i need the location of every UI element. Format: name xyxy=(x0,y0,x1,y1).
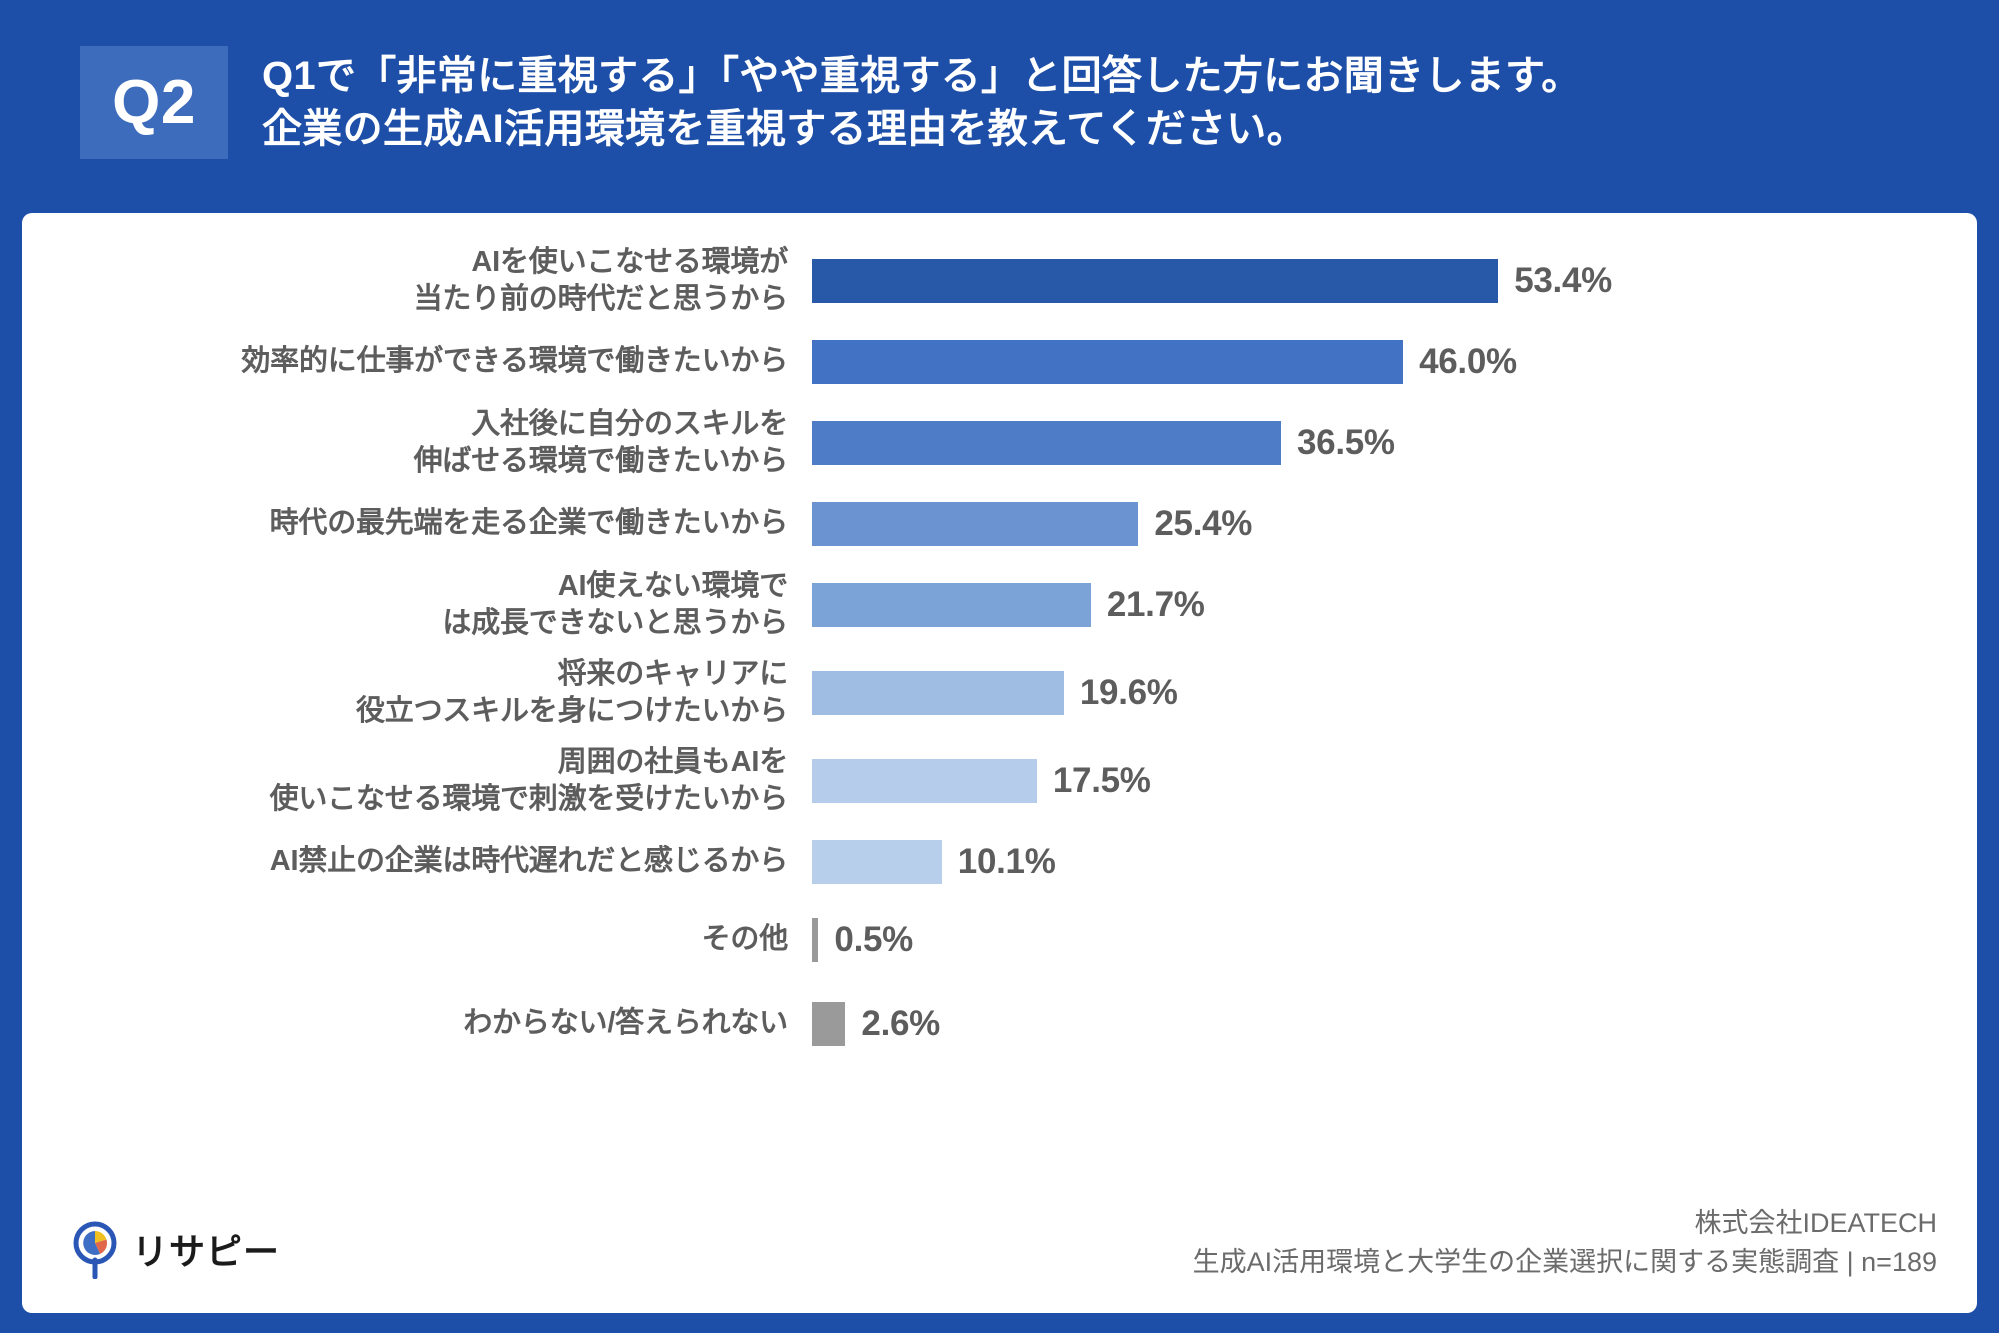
bar-value-label: 53.4% xyxy=(1514,261,1612,301)
brand-logo: リサピー xyxy=(70,1219,280,1279)
chart-row: 入社後に自分のスキルを伸ばせる環境で働きたいから36.5% xyxy=(22,399,1977,487)
bar-value-label: 17.5% xyxy=(1053,761,1151,801)
bar-area: 0.5% xyxy=(812,918,1977,962)
bar xyxy=(812,918,818,962)
chart-card: AIを使いこなせる環境が当たり前の時代だと思うから53.4%効率的に仕事ができる… xyxy=(22,213,1977,1313)
bar-value-label: 10.1% xyxy=(958,842,1056,882)
chart-row: その他0.5% xyxy=(22,899,1977,981)
bar-area: 2.6% xyxy=(812,1002,1977,1046)
slide-header: Q2 Q1で「非常に重視する」「やや重視する」と回答した方にお聞きします。 企業… xyxy=(0,0,1999,205)
question-title: Q1で「非常に重視する」「やや重視する」と回答した方にお聞きします。 企業の生成… xyxy=(262,50,1582,156)
bar-area: 17.5% xyxy=(812,759,1977,803)
bar-category-label-line: 伸ばせる環境で働きたいから xyxy=(22,443,788,480)
bar-category-label-line: 入社後に自分のスキルを xyxy=(22,406,788,443)
bar-value-label: 36.5% xyxy=(1297,423,1395,463)
bar-category-label-line: 将来のキャリアに xyxy=(22,656,788,693)
bar-category-label-line: AI禁止の企業は時代遅れだと感じるから xyxy=(22,843,788,880)
question-title-line-2: 企業の生成AI活用環境を重視する理由を教えてください。 xyxy=(262,103,1582,156)
brand-logo-label: リサピー xyxy=(132,1223,280,1275)
bar-category-label: 将来のキャリアに役立つスキルを身につけたいから xyxy=(22,656,812,730)
bar-area: 19.6% xyxy=(812,671,1977,715)
bar-category-label-line: わからない/答えられない xyxy=(22,1005,788,1042)
bar-category-label-line: 使いこなせる環境で刺激を受けたいから xyxy=(22,781,788,818)
bar-category-label-line: は成長できないと思うから xyxy=(22,605,788,642)
question-number-badge: Q2 xyxy=(80,46,228,159)
chart-row: AI禁止の企業は時代遅れだと感じるから10.1% xyxy=(22,825,1977,899)
bar-category-label: わからない/答えられない xyxy=(22,1005,812,1042)
bar xyxy=(812,502,1138,546)
slide-footer: リサピー 株式会社IDEATECH 生成AI活用環境と大学生の企業選択に関する実… xyxy=(22,1185,1977,1285)
bar-category-label-line: 役立つスキルを身につけたいから xyxy=(22,693,788,730)
bar-category-label: 入社後に自分のスキルを伸ばせる環境で働きたいから xyxy=(22,406,812,480)
chart-row: AIを使いこなせる環境が当たり前の時代だと思うから53.4% xyxy=(22,237,1977,325)
bar-category-label: 周囲の社員もAIを使いこなせる環境で刺激を受けたいから xyxy=(22,744,812,818)
bar xyxy=(812,840,942,884)
bar-area: 10.1% xyxy=(812,840,1977,884)
magnifier-pie-chart-icon xyxy=(70,1219,120,1279)
bar-category-label-line: AIを使いこなせる環境が xyxy=(22,244,788,281)
bar-category-label-line: その他 xyxy=(22,921,788,958)
bar-area: 46.0% xyxy=(812,340,1977,384)
bar-category-label-line: 効率的に仕事ができる環境で働きたいから xyxy=(22,343,788,380)
chart-row: 将来のキャリアに役立つスキルを身につけたいから19.6% xyxy=(22,649,1977,737)
bar-area: 36.5% xyxy=(812,421,1977,465)
bar-category-label-line: 周囲の社員もAIを xyxy=(22,744,788,781)
bar-category-label: AIを使いこなせる環境が当たり前の時代だと思うから xyxy=(22,244,812,318)
bar xyxy=(812,1002,845,1046)
bar xyxy=(812,340,1403,384)
bar-value-label: 2.6% xyxy=(861,1004,940,1044)
chart-row: AI使えない環境では成長できないと思うから21.7% xyxy=(22,561,1977,649)
chart-row: 時代の最先端を走る企業で働きたいから25.4% xyxy=(22,487,1977,561)
bar xyxy=(812,759,1037,803)
bar-category-label-line: 時代の最先端を走る企業で働きたいから xyxy=(22,505,788,542)
slide-root: Q2 Q1で「非常に重視する」「やや重視する」と回答した方にお聞きします。 企業… xyxy=(0,0,1999,1333)
credit-company: 株式会社IDEATECH xyxy=(1193,1204,1937,1242)
credit-survey: 生成AI活用環境と大学生の企業選択に関する実態調査 | n=189 xyxy=(1193,1243,1937,1281)
bar-category-label: 効率的に仕事ができる環境で働きたいから xyxy=(22,343,812,380)
bar-category-label-line: AI使えない環境で xyxy=(22,568,788,605)
bar-value-label: 46.0% xyxy=(1419,342,1517,382)
question-title-line-1: Q1で「非常に重視する」「やや重視する」と回答した方にお聞きします。 xyxy=(262,50,1582,103)
bar-area: 53.4% xyxy=(812,259,1977,303)
bar-category-label: AI禁止の企業は時代遅れだと感じるから xyxy=(22,843,812,880)
bar-category-label: その他 xyxy=(22,921,812,958)
bar-category-label: AI使えない環境では成長できないと思うから xyxy=(22,568,812,642)
bar-value-label: 21.7% xyxy=(1107,585,1205,625)
bar-area: 25.4% xyxy=(812,502,1977,546)
chart-row: わからない/答えられない2.6% xyxy=(22,981,1977,1067)
bar-category-label-line: 当たり前の時代だと思うから xyxy=(22,281,788,318)
chart-row: 効率的に仕事ができる環境で働きたいから46.0% xyxy=(22,325,1977,399)
bar-value-label: 0.5% xyxy=(834,920,913,960)
bar-area: 21.7% xyxy=(812,583,1977,627)
bar-value-label: 19.6% xyxy=(1080,673,1178,713)
bar xyxy=(812,671,1064,715)
chart-row: 周囲の社員もAIを使いこなせる環境で刺激を受けたいから17.5% xyxy=(22,737,1977,825)
bar-category-label: 時代の最先端を走る企業で働きたいから xyxy=(22,505,812,542)
bar xyxy=(812,583,1091,627)
source-credit: 株式会社IDEATECH 生成AI活用環境と大学生の企業選択に関する実態調査 |… xyxy=(1193,1204,1937,1281)
bar xyxy=(812,259,1498,303)
bar-value-label: 25.4% xyxy=(1154,504,1252,544)
bar xyxy=(812,421,1281,465)
horizontal-bar-chart: AIを使いこなせる環境が当たり前の時代だと思うから53.4%効率的に仕事ができる… xyxy=(22,237,1977,1067)
